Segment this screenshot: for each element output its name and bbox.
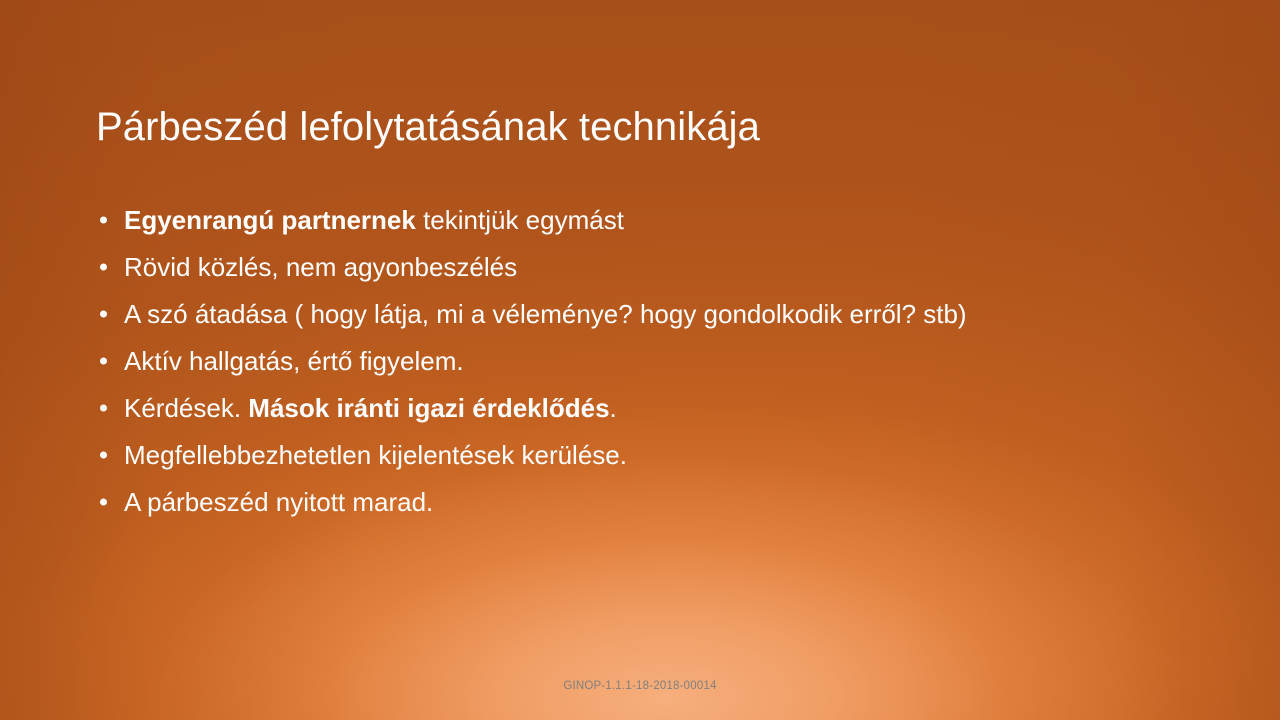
bullet-dot-icon (100, 216, 107, 223)
bullet-list-item: Megfellebbezhetetlen kijelentések kerülé… (96, 431, 1196, 478)
bullet-list-item: Rövid közlés, nem agyonbeszélés (96, 243, 1196, 290)
bullet-item-text: Egyenrangú partnernek tekintjük egymást (124, 203, 624, 237)
bullet-list-item: Egyenrangú partnernek tekintjük egymást (96, 196, 1196, 243)
bullet-text-run: A szó átadása ( hogy látja, mi a vélemén… (124, 299, 967, 329)
bullet-list-item: Kérdések. Mások iránti igazi érdeklődés. (96, 384, 1196, 431)
bullet-text-run: A párbeszéd nyitott marad. (124, 487, 433, 517)
slide-footer-project-code: GINOP-1.1.1-18-2018-00014 (0, 678, 1280, 694)
bullet-item-text: Kérdések. Mások iránti igazi érdeklődés. (124, 391, 617, 425)
bullet-item-text: Aktív hallgatás, értő figyelem. (124, 344, 464, 378)
slide-title: Párbeszéd lefolytatásának technikája (96, 101, 1186, 153)
slide-content: Párbeszéd lefolytatásának technikája Egy… (0, 0, 1280, 720)
bullet-text-run: Rövid közlés, nem agyonbeszélés (124, 252, 517, 282)
bullet-item-text: A párbeszéd nyitott marad. (124, 485, 433, 519)
presentation-slide: Párbeszéd lefolytatásának technikája Egy… (0, 0, 1280, 720)
bullet-list-item: A párbeszéd nyitott marad. (96, 478, 1196, 525)
bullet-text-run: Kérdések. (124, 393, 248, 423)
bullet-text-run: tekintjük egymást (416, 205, 624, 235)
bullet-list-item: Aktív hallgatás, értő figyelem. (96, 337, 1196, 384)
bullet-text-emphasis: Egyenrangú partnernek (124, 205, 416, 235)
bullet-item-text: Megfellebbezhetetlen kijelentések kerülé… (124, 438, 627, 472)
bullet-dot-icon (100, 310, 107, 317)
bullet-text-run: Aktív hallgatás, értő figyelem. (124, 346, 464, 376)
bullet-dot-icon (100, 404, 107, 411)
bullet-text-run: Megfellebbezhetetlen kijelentések kerülé… (124, 440, 627, 470)
bullet-dot-icon (100, 498, 107, 505)
bullet-text-emphasis: Mások iránti igazi érdeklődés (248, 393, 609, 423)
bullet-list: Egyenrangú partnernek tekintjük egymástR… (96, 196, 1196, 525)
bullet-dot-icon (100, 451, 107, 458)
bullet-item-text: Rövid közlés, nem agyonbeszélés (124, 250, 517, 284)
bullet-list-item: A szó átadása ( hogy látja, mi a vélemén… (96, 290, 1196, 337)
bullet-item-text: A szó átadása ( hogy látja, mi a vélemén… (124, 297, 967, 331)
bullet-dot-icon (100, 263, 107, 270)
bullet-text-run: . (610, 393, 617, 423)
bullet-dot-icon (100, 357, 107, 364)
